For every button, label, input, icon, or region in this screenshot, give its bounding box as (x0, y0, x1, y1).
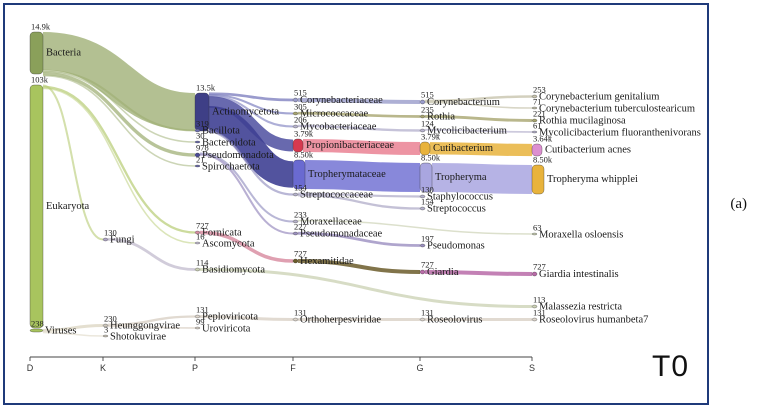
sankey-node-label: Corynebacterium tuberculostearicum (539, 103, 695, 114)
sankey-node-label: Cutibacterium (433, 143, 493, 154)
timepoint-label: T0 (652, 350, 689, 384)
sankey-node-label: Peploviricota (202, 311, 258, 322)
sankey-node[interactable] (420, 318, 425, 321)
sankey-node[interactable] (532, 318, 537, 321)
axis-tick-label-P: P (192, 363, 198, 373)
sankey-node-label: Roseolovirus humanbeta7 (539, 314, 648, 325)
sankey-node[interactable] (420, 244, 425, 247)
axis-tick-label-F: F (290, 363, 296, 373)
sankey-svg-container: 14.9kBacteria103kEukaryota238Viruses130F… (5, 5, 711, 407)
sankey-node[interactable] (293, 259, 298, 263)
sankey-node-label: Hexamitidae (300, 256, 354, 267)
sankey-node-label: Cutibacterium acnes (545, 144, 631, 155)
sankey-node-label: Giardia intestinalis (539, 269, 619, 280)
sankey-plot-area: 14.9kBacteria103kEukaryota238Viruses130F… (3, 3, 709, 405)
sankey-node[interactable] (293, 318, 298, 321)
sankey-node-label: Pseudomonas (427, 240, 485, 251)
sankey-node[interactable] (195, 242, 200, 244)
sankey-node-label: Spirochaetota (202, 161, 260, 172)
sankey-node-value: 3.64k (533, 134, 553, 144)
sankey-node-value: 14.9k (31, 22, 51, 32)
sankey-node-label: Fornicata (202, 227, 242, 238)
sankey-diagram: 14.9kBacteria103kEukaryota238Viruses130F… (5, 5, 711, 407)
sankey-link (43, 51, 195, 112)
sankey-node[interactable] (30, 329, 43, 332)
sankey-node-label: Propionibacteriaceae (306, 140, 394, 151)
sankey-node[interactable] (195, 165, 200, 167)
sankey-node[interactable] (30, 85, 43, 328)
sankey-node-label: Moraxellaceae (300, 216, 362, 227)
sankey-node-label: Malassezia restricta (539, 301, 622, 312)
sankey-node-label: Corynebacteriaceae (300, 95, 383, 106)
panel-letter: (a) (730, 196, 747, 213)
sankey-node[interactable] (195, 268, 200, 271)
sankey-node-label: Streptococcus (427, 203, 486, 214)
sankey-node-label: Heunggongvirae (110, 320, 180, 331)
sankey-node[interactable] (420, 100, 425, 104)
sankey-node-value: 3.79k (421, 132, 441, 142)
axis-tick-label-D: D (27, 363, 34, 373)
sankey-node[interactable] (195, 327, 200, 329)
axis-tick-label-G: G (416, 363, 423, 373)
sankey-node[interactable] (532, 272, 537, 276)
sankey-node-label: Giardia (427, 267, 459, 278)
sankey-node[interactable] (30, 32, 43, 74)
sankey-node-label: Streptococcaceae (300, 189, 373, 200)
sankey-node-value: 13.5k (196, 83, 216, 93)
taxonomic-rank-axis: DKPFGS (27, 357, 535, 373)
figure-frame: 14.9kBacteria103kEukaryota238Viruses130F… (0, 0, 761, 410)
sankey-node-label: Orthoherpesviridae (300, 314, 381, 325)
sankey-node-label: Micrococcaceae (300, 108, 369, 119)
sankey-node-label: Tropheryma whipplei (547, 174, 638, 185)
sankey-node-label: Roseolovirus (427, 314, 482, 325)
sankey-node-label: Pseudomonadaceae (300, 228, 383, 239)
sankey-node-label: Tropheryma (435, 172, 487, 183)
sankey-node[interactable] (532, 165, 544, 194)
sankey-node-label: Moraxella osloensis (539, 229, 623, 240)
sankey-node[interactable] (420, 207, 425, 210)
sankey-node-value: 8.50k (533, 155, 553, 165)
sankey-node-label: Eukaryota (46, 201, 89, 212)
sankey-node-label: Mycolicibacterium fluoranthenivorans (539, 127, 701, 138)
sankey-node-label: Uroviricota (202, 323, 251, 334)
sankey-node-label: Rothia mucilaginosa (539, 115, 626, 126)
sankey-node-label: Bacteroidota (202, 137, 256, 148)
axis-tick-label-K: K (100, 363, 106, 373)
sankey-node-label: Corynebacterium genitalium (539, 91, 659, 102)
sankey-link (43, 86, 103, 240)
sankey-node-label: Actinomycetota (212, 106, 279, 117)
sankey-node-value: 103k (31, 75, 49, 85)
sankey-node-label: Tropherymataceae (308, 169, 386, 180)
sankey-node-label: Bacteria (46, 47, 81, 58)
sankey-node-label: Fungi (110, 234, 135, 245)
axis-tick-label-S: S (529, 363, 535, 373)
sankey-node[interactable] (293, 193, 298, 196)
sankey-node[interactable] (103, 335, 108, 337)
sankey-node-label: Corynebacterium (427, 97, 500, 108)
sankey-node-label: Shotokuvirae (110, 331, 166, 342)
sankey-node-label: Bacillota (202, 125, 240, 136)
sankey-node-label: Pseudomonadota (202, 150, 274, 161)
sankey-node-value: 3.79k (294, 129, 314, 139)
sankey-node-value: 8.50k (421, 153, 441, 163)
sankey-node-label: Ascomycota (202, 238, 255, 249)
sankey-node-label: Basidiomycota (202, 264, 265, 275)
sankey-node[interactable] (103, 238, 108, 241)
sankey-node-value: 3 (104, 325, 108, 335)
sankey-node[interactable] (420, 270, 425, 274)
sankey-node[interactable] (293, 232, 298, 235)
sankey-node-value: 238 (31, 319, 44, 329)
sankey-node-label: Viruses (45, 325, 76, 336)
sankey-node[interactable] (532, 233, 537, 235)
sankey-node-value: 8.50k (294, 150, 314, 160)
sankey-node-label: Staphylococcus (427, 191, 493, 202)
